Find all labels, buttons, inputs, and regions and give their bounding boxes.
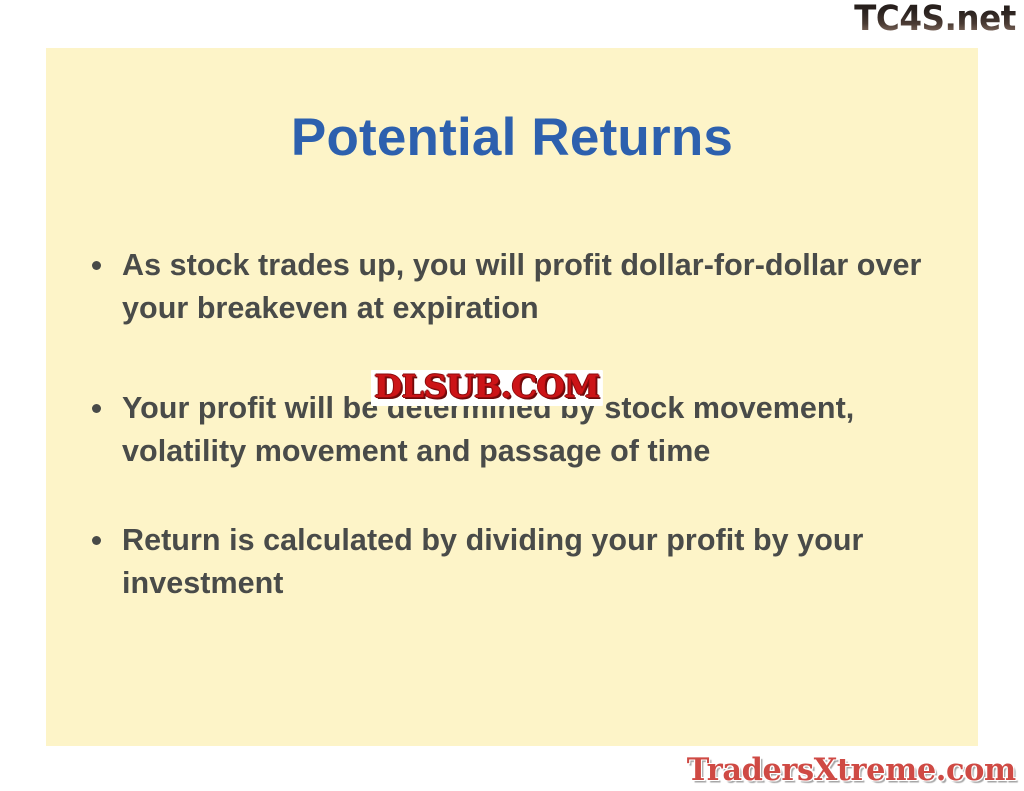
list-item-text: As stock trades up, you will profit doll…: [122, 244, 922, 331]
bullet-dot-icon: [92, 519, 122, 550]
bullet-list: As stock trades up, you will profit doll…: [92, 244, 972, 606]
tradersxtreme-logo: TradersXtreme.com: [687, 754, 1016, 787]
list-item: As stock trades up, you will profit doll…: [92, 244, 972, 331]
slide-root: TC4S.net Potential Returns As stock trad…: [0, 0, 1024, 791]
bullet-dot-icon: [92, 244, 122, 275]
bullet-dot-icon: [92, 387, 122, 418]
list-item-text: Return is calculated by dividing your pr…: [122, 519, 872, 606]
tc4s-logo: TC4S.net: [854, 2, 1016, 37]
page-title: Potential Returns: [46, 110, 978, 166]
dlsub-watermark: DLSUB.COM: [371, 370, 602, 406]
list-item: Return is calculated by dividing your pr…: [92, 519, 972, 606]
